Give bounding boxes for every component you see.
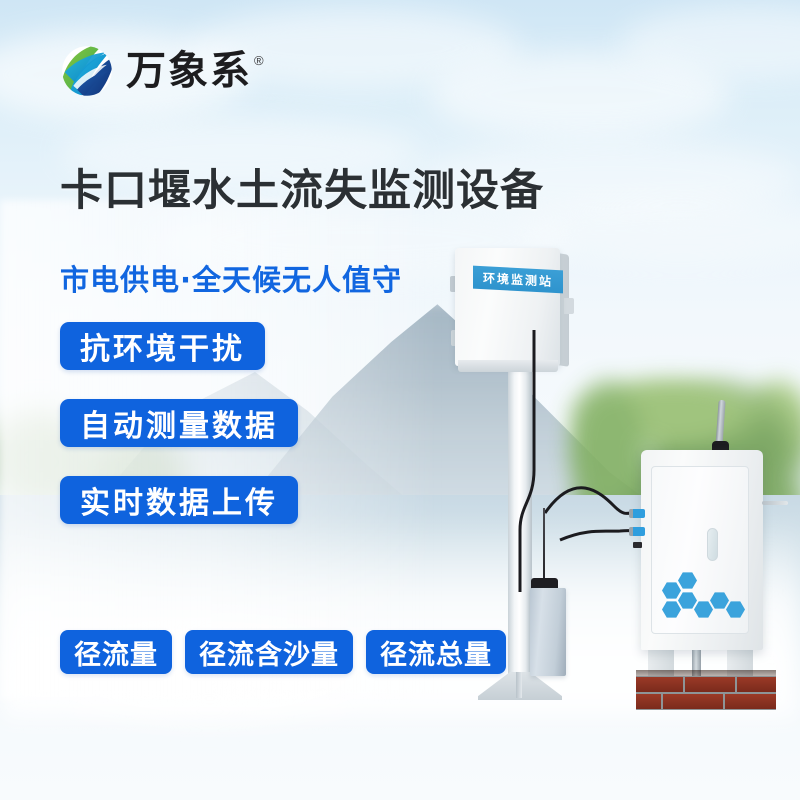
page-subtitle: 市电供电·全天候无人值守: [60, 257, 402, 299]
measurement-tag-3[interactable]: 径流总量: [366, 630, 506, 674]
page-title: 卡口堰水土流失监测设备: [60, 156, 544, 218]
brick-base: [636, 676, 776, 710]
feature-pill-1[interactable]: 抗环境干扰: [60, 322, 265, 370]
hexagon-pattern-icon: [662, 568, 734, 618]
station-bottom-edge: [458, 360, 558, 372]
trademark-symbol: ®: [254, 53, 264, 68]
pole-base-rib: [516, 672, 522, 698]
brand-name: 万象系: [126, 51, 252, 91]
brand-logo: 万象系 ®: [56, 40, 264, 102]
sensor-antenna-icon: [543, 508, 545, 580]
cabinet-port-connector: [629, 527, 645, 536]
feature-pill-3[interactable]: 实时数据上传: [60, 476, 298, 524]
measurement-tag-2[interactable]: 径流含沙量: [185, 630, 353, 674]
measurement-tag-1[interactable]: 径流量: [60, 630, 172, 674]
product-poster: 环境监测站: [0, 0, 800, 800]
door-handle-icon: [707, 528, 718, 561]
measurement-tag-list: 径流量 径流含沙量 径流总量: [60, 630, 506, 674]
cabinet-port-block: [633, 542, 642, 548]
cabinet-port-connector: [629, 509, 645, 518]
station-banner-label: 环境监测站: [473, 266, 563, 294]
mounting-pole: [508, 330, 532, 685]
station-side-tab: [564, 298, 574, 314]
globe-swoosh-icon: [56, 40, 118, 102]
cabinet-side-arm: [762, 501, 788, 505]
monitoring-station-icon: [455, 248, 560, 366]
feature-pill-2[interactable]: 自动测量数据: [60, 399, 298, 447]
feature-list: 抗环境干扰 自动测量数据 实时数据上传: [60, 322, 298, 524]
sensor-probe-icon: [530, 588, 566, 676]
